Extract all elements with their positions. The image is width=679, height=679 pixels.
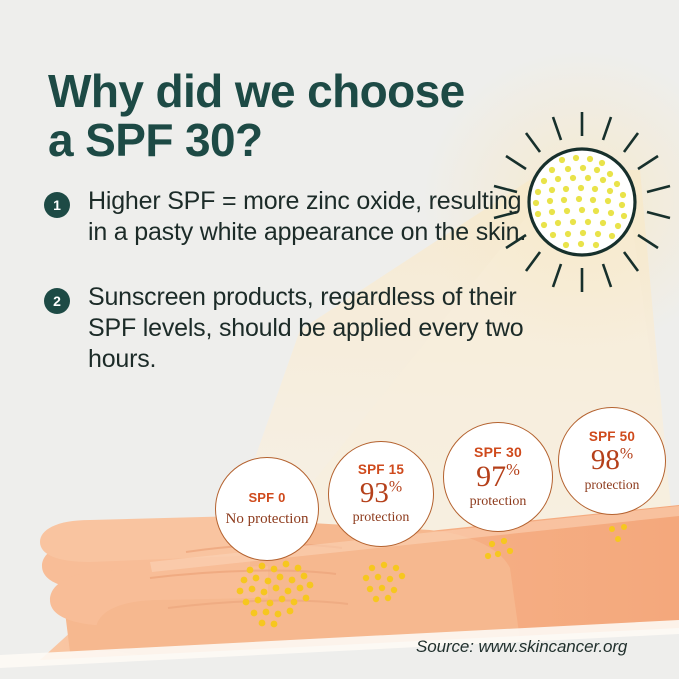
point-text: Sunscreen products, regardless of their … <box>88 282 544 375</box>
spf-label: SPF 30 <box>474 444 522 460</box>
spf-sub-label: protection <box>353 510 410 526</box>
spf-percent: 97% <box>476 462 520 492</box>
spf-label: SPF 15 <box>358 462 404 477</box>
title-line-2: a SPF 30? <box>48 116 628 166</box>
point-text: Higher SPF = more zinc oxide, resulting … <box>88 186 544 248</box>
list-item: 1 Higher SPF = more zinc oxide, resultin… <box>44 186 544 248</box>
point-number-badge: 2 <box>44 288 70 314</box>
spf-sub-label: protection <box>470 494 527 510</box>
points-list: 1 Higher SPF = more zinc oxide, resultin… <box>44 186 544 409</box>
spf-sub-label: No protection <box>226 511 309 528</box>
page-title: Why did we choose a SPF 30? <box>48 67 628 166</box>
spf-percent: 98% <box>591 446 633 475</box>
source-attribution: Source: www.skincancer.org <box>416 637 627 657</box>
spf-label: SPF 0 <box>248 490 285 505</box>
spf-bubble-1: SPF 15 93% protection <box>328 441 434 547</box>
percent-symbol: % <box>506 460 520 479</box>
spf-bubble-0: SPF 0 No protection <box>215 457 319 561</box>
title-line-1: Why did we choose <box>48 67 628 117</box>
spf-bubble-2: SPF 30 97% protection <box>443 422 553 532</box>
infographic-canvas: Why did we choose a SPF 30? 1 Higher SPF… <box>0 0 679 679</box>
list-item: 2 Sunscreen products, regardless of thei… <box>44 282 544 375</box>
spf-label: SPF 50 <box>589 429 635 444</box>
point-number-badge: 1 <box>44 192 70 218</box>
spf-percent: 93% <box>360 479 402 508</box>
spf-bubble-3: SPF 50 98% protection <box>558 407 666 515</box>
spf-sub-label: protection <box>585 477 640 492</box>
percent-symbol: % <box>389 479 402 496</box>
percent-symbol: % <box>620 446 633 463</box>
